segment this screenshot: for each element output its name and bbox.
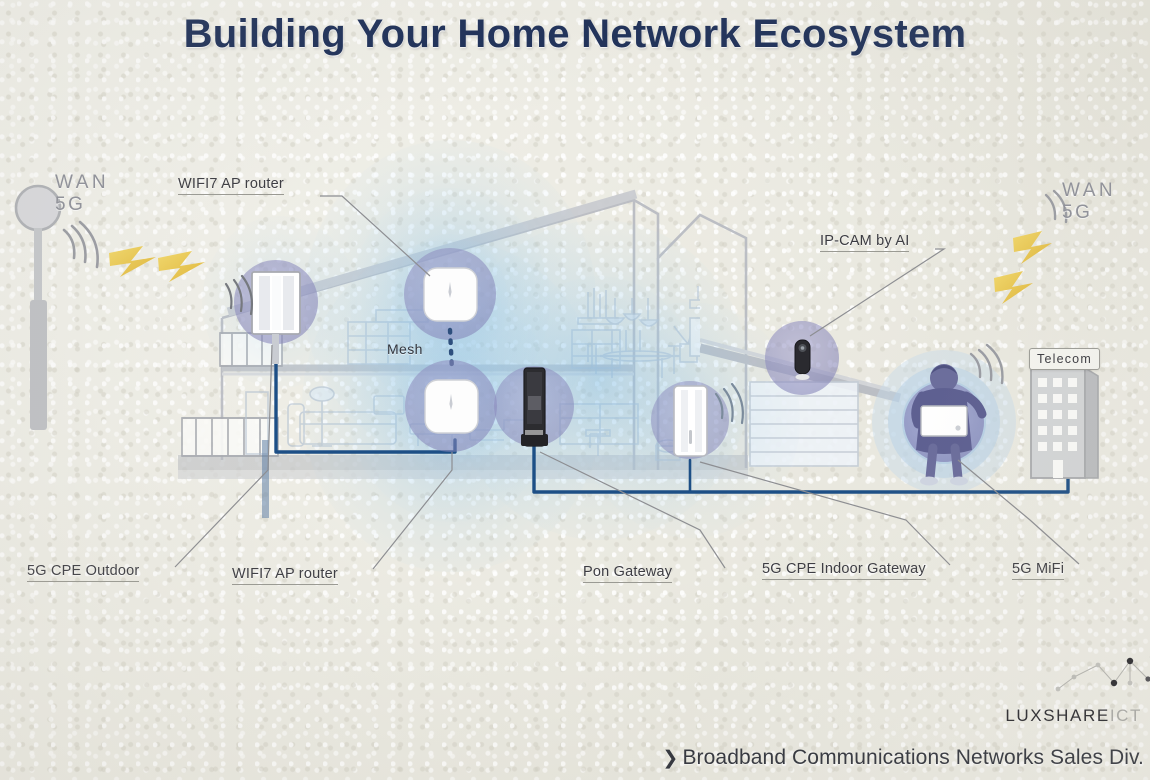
callout-pon-gateway: Pon Gateway [583,564,672,583]
wifi-coverage-zones [202,140,800,572]
luxshare-ict-logo: LUXSHAREICT [1005,649,1142,726]
device-ip-cam[interactable] [765,321,839,395]
wan-left-line1: WAN [55,172,109,194]
mesh-label: Mesh [387,341,423,357]
diagram-stage: Building Your Home Network Ecosystem WAN… [0,0,1150,780]
wan-label-right: WAN 5G [1062,180,1116,224]
lightning-bolts-left [109,246,205,282]
lightning-bolts-right [994,231,1052,304]
wan-tower-left [16,186,60,430]
logo-network-graphic [1052,649,1150,701]
wan-right-line2: 5G [1062,202,1116,224]
callout-ip-cam-by-ai: IP-CAM by AI [820,233,909,252]
callout-5g-cpe-indoor-gateway: 5G CPE Indoor Gateway [762,561,926,580]
device-wifi7-ap-lower[interactable] [405,360,497,452]
wan-label-left: WAN 5G [55,172,109,216]
logo-wordmark: LUXSHAREICT [1005,706,1142,726]
telecom-sign-label: Telecom [1029,348,1100,370]
device-5g-cpe-indoor[interactable] [651,381,729,459]
page-title: Building Your Home Network Ecosystem [0,12,1150,57]
device-wifi7-ap-upper[interactable] [404,248,496,340]
callout-5g-mifi: 5G MiFi [1012,561,1064,580]
device-pon-gateway[interactable] [494,366,574,446]
footer-tagline: ❯Broadband Communications Networks Sales… [662,746,1144,770]
logo-luxshare-text: LUXSHARE [1005,706,1109,725]
wan-right-line1: WAN [1062,180,1116,202]
network-ecosystem-illustration [0,0,1150,780]
chevron-right-icon: ❯ [662,748,678,769]
wan-left-line2: 5G [55,194,109,216]
footer-tagline-text: Broadband Communications Networks Sales … [682,746,1144,769]
callout-5g-cpe-outdoor: 5G CPE Outdoor [27,563,139,582]
callout-wifi7-ap-router-top: WIFI7 AP router [178,176,284,195]
logo-ict-text: ICT [1110,706,1142,725]
callout-wifi7-ap-router-bottom: WIFI7 AP router [232,566,338,585]
telecom-building [1031,356,1098,478]
wan-left-signal-arcs [64,222,98,267]
